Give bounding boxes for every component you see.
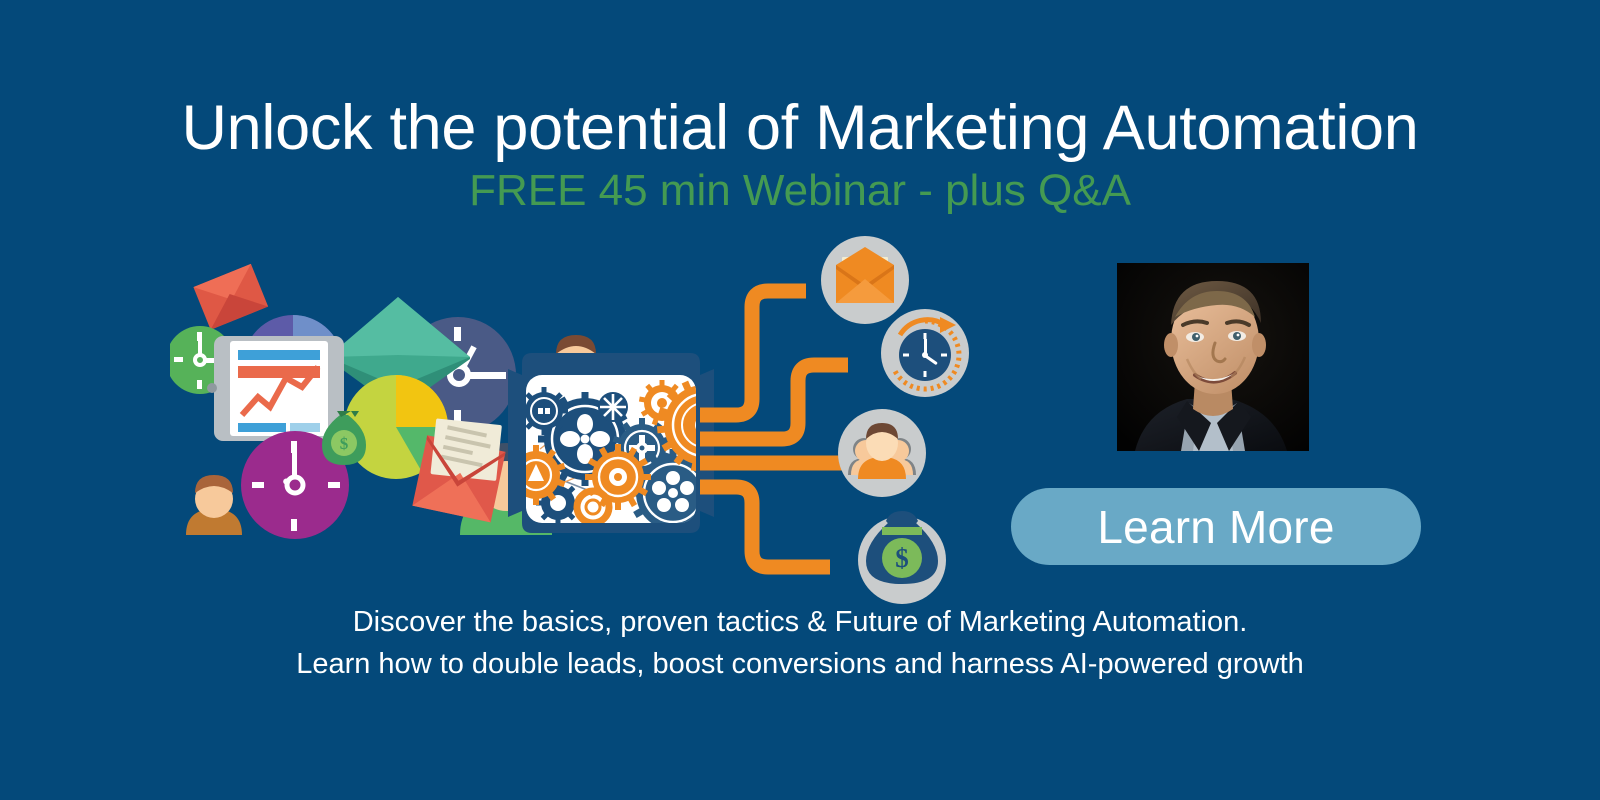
speaker-headshot (1117, 263, 1309, 451)
marketing-automation-workflow-illustration: $ $ (170, 235, 970, 605)
money-bag-icon: $ (866, 511, 938, 584)
learn-more-button[interactable]: Learn More (1011, 488, 1421, 565)
email-output-icon (821, 236, 909, 324)
tablet-analytics-icon (207, 336, 344, 441)
description-line-1: Discover the basics, proven tactics & Fu… (0, 601, 1600, 643)
description-block: Discover the basics, proven tactics & Fu… (0, 601, 1600, 685)
person-icon (186, 475, 242, 535)
revenue-output-icon: $ (858, 511, 946, 604)
gear-wheel-small (598, 392, 628, 422)
svg-text:$: $ (895, 543, 909, 573)
scheduling-output-icon (881, 309, 969, 397)
workflow-connectors (700, 291, 860, 567)
audience-output-icon (838, 409, 926, 497)
headline-block: Unlock the potential of Marketing Automa… (0, 96, 1600, 214)
webinar-promo-banner: $ $ (0, 0, 1600, 800)
page-subtitle: FREE 45 min Webinar - plus Q&A (0, 168, 1600, 214)
envelope-red-icon (193, 264, 268, 330)
description-line-2: Learn how to double leads, boost convers… (0, 643, 1600, 685)
page-title: Unlock the potential of Marketing Automa… (0, 96, 1600, 160)
gear-blue-small (520, 387, 568, 435)
svg-text:$: $ (340, 434, 349, 453)
